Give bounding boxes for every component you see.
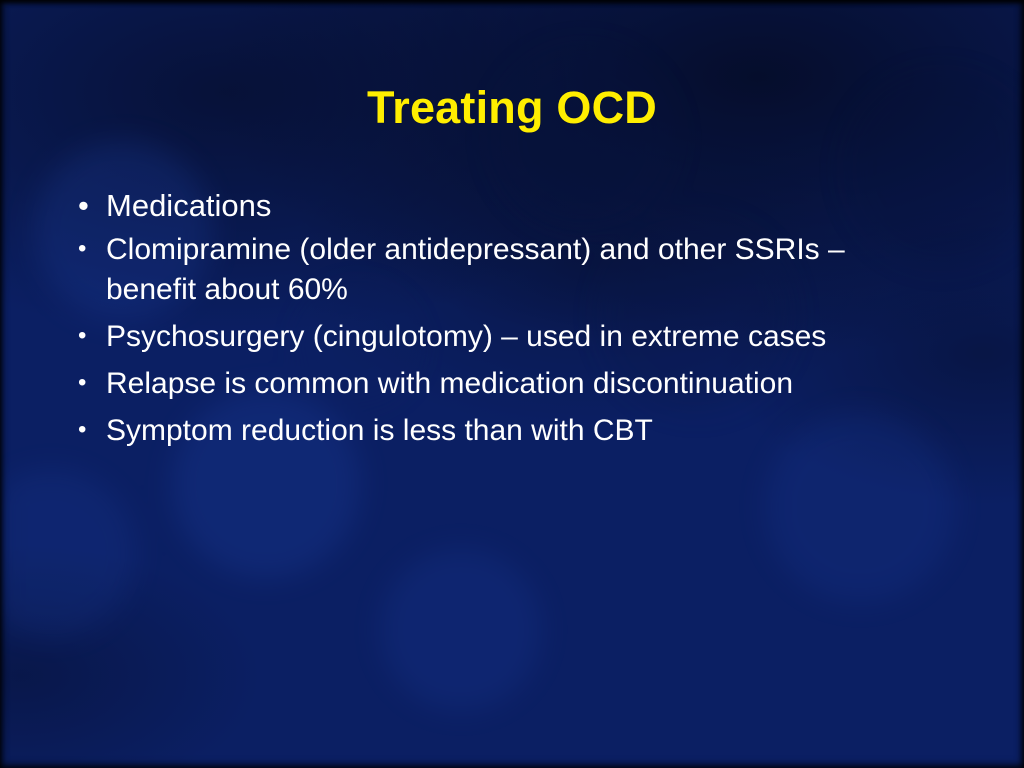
bullet-item-medications: • Medications bbox=[78, 186, 984, 226]
slide-content: Treating OCD • Medications • Clomipramin… bbox=[0, 0, 1024, 768]
bullet-dot-icon: • bbox=[78, 364, 106, 402]
list-item: • Medications • Clomipramine (older anti… bbox=[78, 186, 984, 451]
slide-title-text: Treating OCD bbox=[367, 82, 657, 133]
list-item: • Clomipramine (older antidepressant) an… bbox=[78, 230, 984, 310]
bullet-text: Medications bbox=[106, 186, 984, 226]
bullet-text: Relapse is common with medication discon… bbox=[106, 364, 851, 404]
bullet-text: Clomipramine (older antidepressant) and … bbox=[106, 230, 851, 310]
bullet-dot-icon: • bbox=[78, 317, 106, 355]
bullet-dot-icon: • bbox=[78, 186, 106, 226]
list-item: • Symptom reduction is less than with CB… bbox=[78, 411, 984, 451]
bullet-list-level-1: • Medications • Clomipramine (older anti… bbox=[78, 186, 984, 451]
bullet-text: Symptom reduction is less than with CBT bbox=[106, 411, 851, 451]
bullet-dot-icon: • bbox=[78, 230, 106, 268]
list-item: • Relapse is common with medication disc… bbox=[78, 364, 984, 404]
slide-title: Treating OCD bbox=[0, 84, 1024, 132]
bullet-text: Psychosurgery (cingulotomy) – used in ex… bbox=[106, 317, 851, 357]
bullet-dot-icon: • bbox=[78, 411, 106, 449]
bullet-list-level-2: • Clomipramine (older antidepressant) an… bbox=[78, 230, 984, 450]
presentation-slide: Treating OCD • Medications • Clomipramin… bbox=[0, 0, 1024, 768]
slide-body: • Medications • Clomipramine (older anti… bbox=[78, 186, 984, 458]
list-item: • Psychosurgery (cingulotomy) – used in … bbox=[78, 317, 984, 357]
